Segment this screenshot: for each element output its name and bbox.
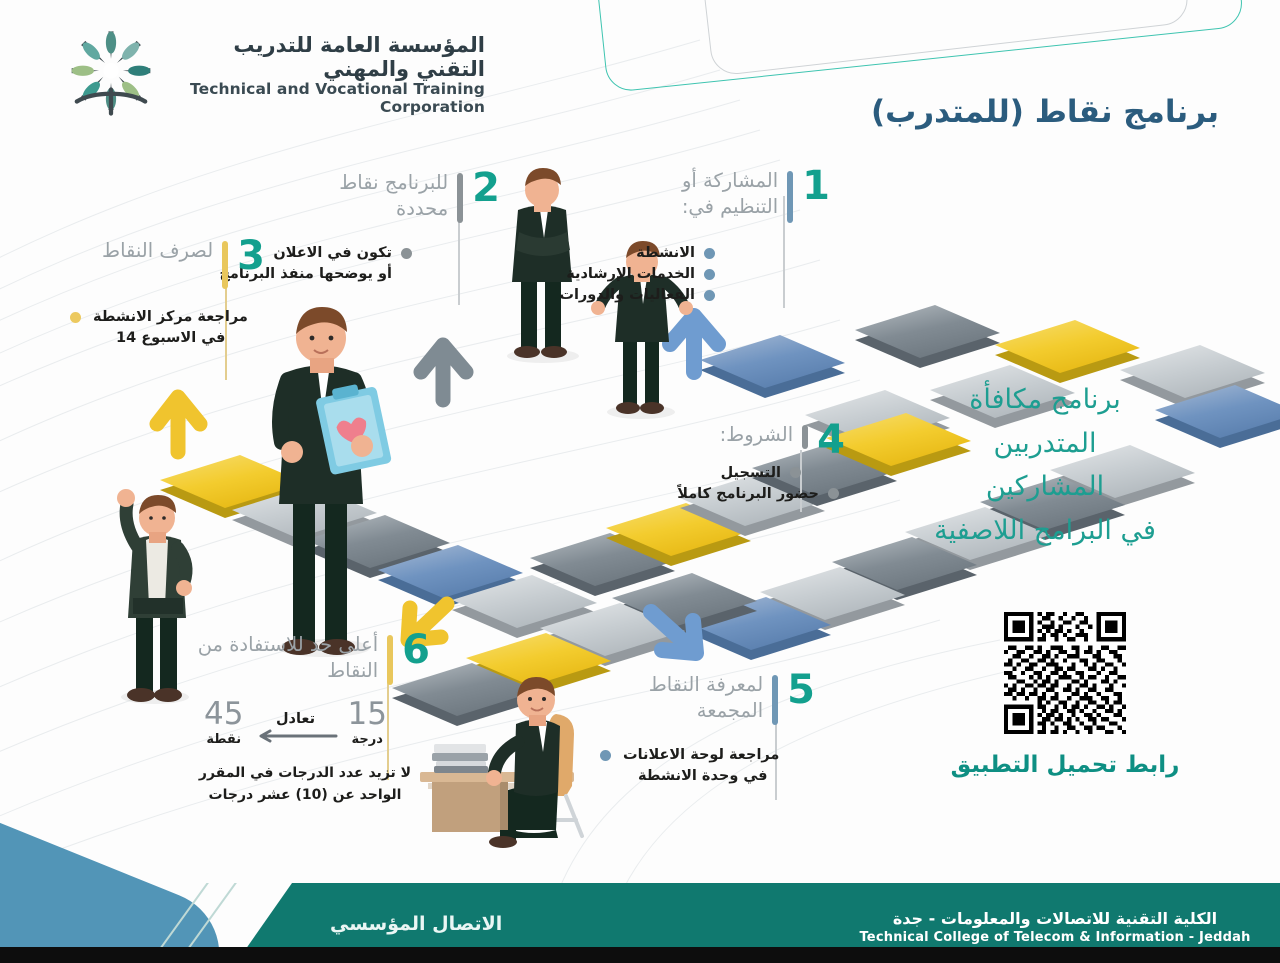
step-6-points-equation: 15 درجة تعادل 45 نقطة: [175, 699, 416, 747]
step-2-title: للبرنامج نقاط محددة: [300, 170, 448, 223]
step-4-accent-bar: [802, 425, 808, 449]
bullet-icon: [704, 269, 715, 280]
step-4-item-label: حضور البرنامج كاملاً: [677, 486, 819, 502]
step-4: 4 الشروط: التسجيل حضور البرنامج كاملاً: [680, 422, 845, 507]
character-with-clipboard: [278, 307, 392, 657]
step-1-number: 1: [802, 168, 830, 205]
college-name-en: Technical College of Telecom & Informati…: [845, 929, 1265, 947]
grades-unit: درجة: [348, 732, 387, 747]
step-4-item-label: التسجيل: [721, 465, 781, 481]
step-1-accent-bar: [787, 171, 793, 223]
step-5-item-label: مراجعة لوحة الاعلانات: [623, 747, 779, 763]
step-3-item-label: في الاسبوع 14: [116, 330, 225, 346]
step-4-header: 4 الشروط:: [680, 422, 845, 459]
step-1: 1 المشاركة أو التنظيم في: الانشطة الخدما…: [630, 168, 830, 308]
description-line-3: المشاركين: [880, 465, 1210, 509]
org-name-ar: المؤسسة العامة للتدريب التقني والمهني: [168, 34, 485, 81]
description-line-4: في البرامج اللاصفية: [880, 509, 1210, 553]
points-value: 45: [204, 699, 243, 730]
step-1-item-label: الانشطة: [636, 245, 695, 261]
step-1-item: الانشطة: [630, 245, 715, 261]
step-3-header: 3 لصرف النقاط: [70, 238, 265, 289]
step-3-item: في الاسبوع 14: [70, 330, 255, 346]
program-description: برنامج مكافأة المتدربين المشاركين في الب…: [880, 378, 1210, 553]
step-5: 5 لمعرفة النقاط المجمعة مراجعة لوحة الاع…: [600, 672, 815, 789]
bullet-icon: [790, 467, 801, 478]
description-line-1: برنامج مكافأة: [880, 378, 1210, 422]
step-2-items: تكون في الاعلان أو يوضحها منفذ البرنامج: [300, 245, 412, 282]
bullet-icon: [828, 488, 839, 499]
bullet-icon: [704, 248, 715, 259]
org-name-en: Technical and Vocational Training Corpor…: [168, 81, 485, 116]
step-2-header: 2 للبرنامج نقاط محددة: [300, 170, 500, 223]
bullet-icon: [600, 750, 611, 761]
step-5-header: 5 لمعرفة النقاط المجمعة: [600, 672, 815, 725]
page-title: برنامج نقاط (للمتدرب): [860, 94, 1230, 130]
equals-label: تعادل: [254, 711, 338, 727]
step-1-item-label: الفعاليات والدورات: [559, 287, 695, 303]
step-6: 6 أعلى حد للاستفادة من النقاط 15 درجة تع…: [175, 632, 430, 806]
brand-text: المؤسسة العامة للتدريب التقني والمهني Te…: [168, 34, 485, 116]
step-1-title: المشاركة أو التنظيم في:: [630, 168, 778, 221]
step-1-header: 1 المشاركة أو التنظيم في:: [630, 168, 830, 223]
step-5-items: مراجعة لوحة الاعلانات في وحدة الانشطة: [600, 747, 795, 784]
brand-logo-block: المؤسسة العامة للتدريب التقني والمهني Te…: [68, 28, 485, 122]
equals-indicator: تعادل: [254, 711, 338, 747]
step-6-number: 6: [402, 632, 430, 669]
description-line-2: المتدربين: [880, 422, 1210, 466]
tvtc-star-logo-icon: [68, 28, 154, 122]
character-at-desk: [420, 677, 582, 848]
bullet-icon: [401, 248, 412, 259]
qr-caption-label[interactable]: رابط تحميل التطبيق: [951, 752, 1180, 778]
step-4-item: التسجيل: [680, 465, 801, 481]
step-5-item-label: في وحدة الانشطة: [638, 768, 768, 784]
step-5-item: مراجعة لوحة الاعلانات: [600, 747, 795, 763]
college-name-ar: الكلية التقنية للاتصالات والمعلومات - جد…: [845, 908, 1265, 930]
grades-column: 15 درجة: [348, 699, 387, 747]
step-3-item-label: مراجعة مركز الانشطة: [93, 309, 248, 325]
step-6-title: أعلى حد للاستفادة من النقاط: [175, 632, 378, 685]
step-5-number: 5: [787, 672, 815, 709]
step-6-note-line-1: لا تزيد عدد الدرجات في المقرر: [180, 763, 430, 785]
footer-college-block: الكلية التقنية للاتصالات والمعلومات - جد…: [845, 908, 1265, 947]
step-2-accent-bar: [457, 173, 463, 223]
step-1-items: الانشطة الخدمات الإرشادية الفعاليات والد…: [630, 245, 715, 303]
bullet-icon: [704, 290, 715, 301]
step-6-accent-bar: [387, 635, 393, 685]
left-arrow-icon: [254, 729, 338, 743]
step-1-item: الفعاليات والدورات: [630, 287, 715, 303]
decor-teal-rounded-line: [595, 0, 1244, 93]
infographic-page: المؤسسة العامة للتدريب التقني والمهني Te…: [0, 0, 1280, 963]
step-4-number: 4: [817, 422, 845, 459]
step-6-note: لا تزيد عدد الدرجات في المقرر الواحد عن …: [180, 763, 430, 806]
step-4-item: حضور البرنامج كاملاً: [680, 486, 839, 502]
step-1-item-label: الخدمات الإرشادية: [566, 266, 695, 282]
grades-value: 15: [348, 699, 387, 730]
step-3-item: مراجعة مركز الانشطة: [70, 309, 255, 325]
points-unit: نقطة: [204, 732, 243, 747]
step-5-accent-bar: [772, 675, 778, 725]
step-4-title: الشروط:: [720, 422, 794, 448]
step-3-number: 3: [237, 238, 265, 275]
step-3-accent-bar: [222, 241, 228, 289]
step-4-items: التسجيل حضور البرنامج كاملاً: [680, 465, 801, 502]
step-2-item: تكون في الاعلان: [300, 245, 412, 261]
app-download-block[interactable]: رابط تحميل التطبيق: [940, 612, 1190, 778]
step-1-item: الخدمات الإرشادية: [630, 266, 715, 282]
footer-left-label: الاتصال المؤسسي: [330, 913, 502, 935]
step-3: 3 لصرف النقاط مراجعة مركز الانشطة في الا…: [70, 238, 265, 351]
step-2-item: أو يوضحها منفذ البرنامج: [300, 266, 412, 282]
step-2: 2 للبرنامج نقاط محددة تكون في الاعلان أو…: [300, 170, 500, 287]
step-3-items: مراجعة مركز الانشطة في الاسبوع 14: [70, 309, 255, 346]
step-3-title: لصرف النقاط: [102, 238, 213, 264]
bullet-icon: [70, 312, 81, 323]
points-column: 45 نقطة: [204, 699, 243, 747]
step-5-title: لمعرفة النقاط المجمعة: [600, 672, 763, 725]
step-2-number: 2: [472, 170, 500, 207]
qr-code-icon[interactable]: [1004, 612, 1126, 734]
step-6-header: 6 أعلى حد للاستفادة من النقاط: [175, 632, 430, 685]
step-6-note-line-2: الواحد عن (10) عشر درجات: [180, 785, 430, 807]
step-2-item-label: تكون في الاعلان: [273, 245, 392, 261]
footer-black-strip: [0, 947, 1280, 963]
step-5-item: في وحدة الانشطة: [600, 768, 795, 784]
